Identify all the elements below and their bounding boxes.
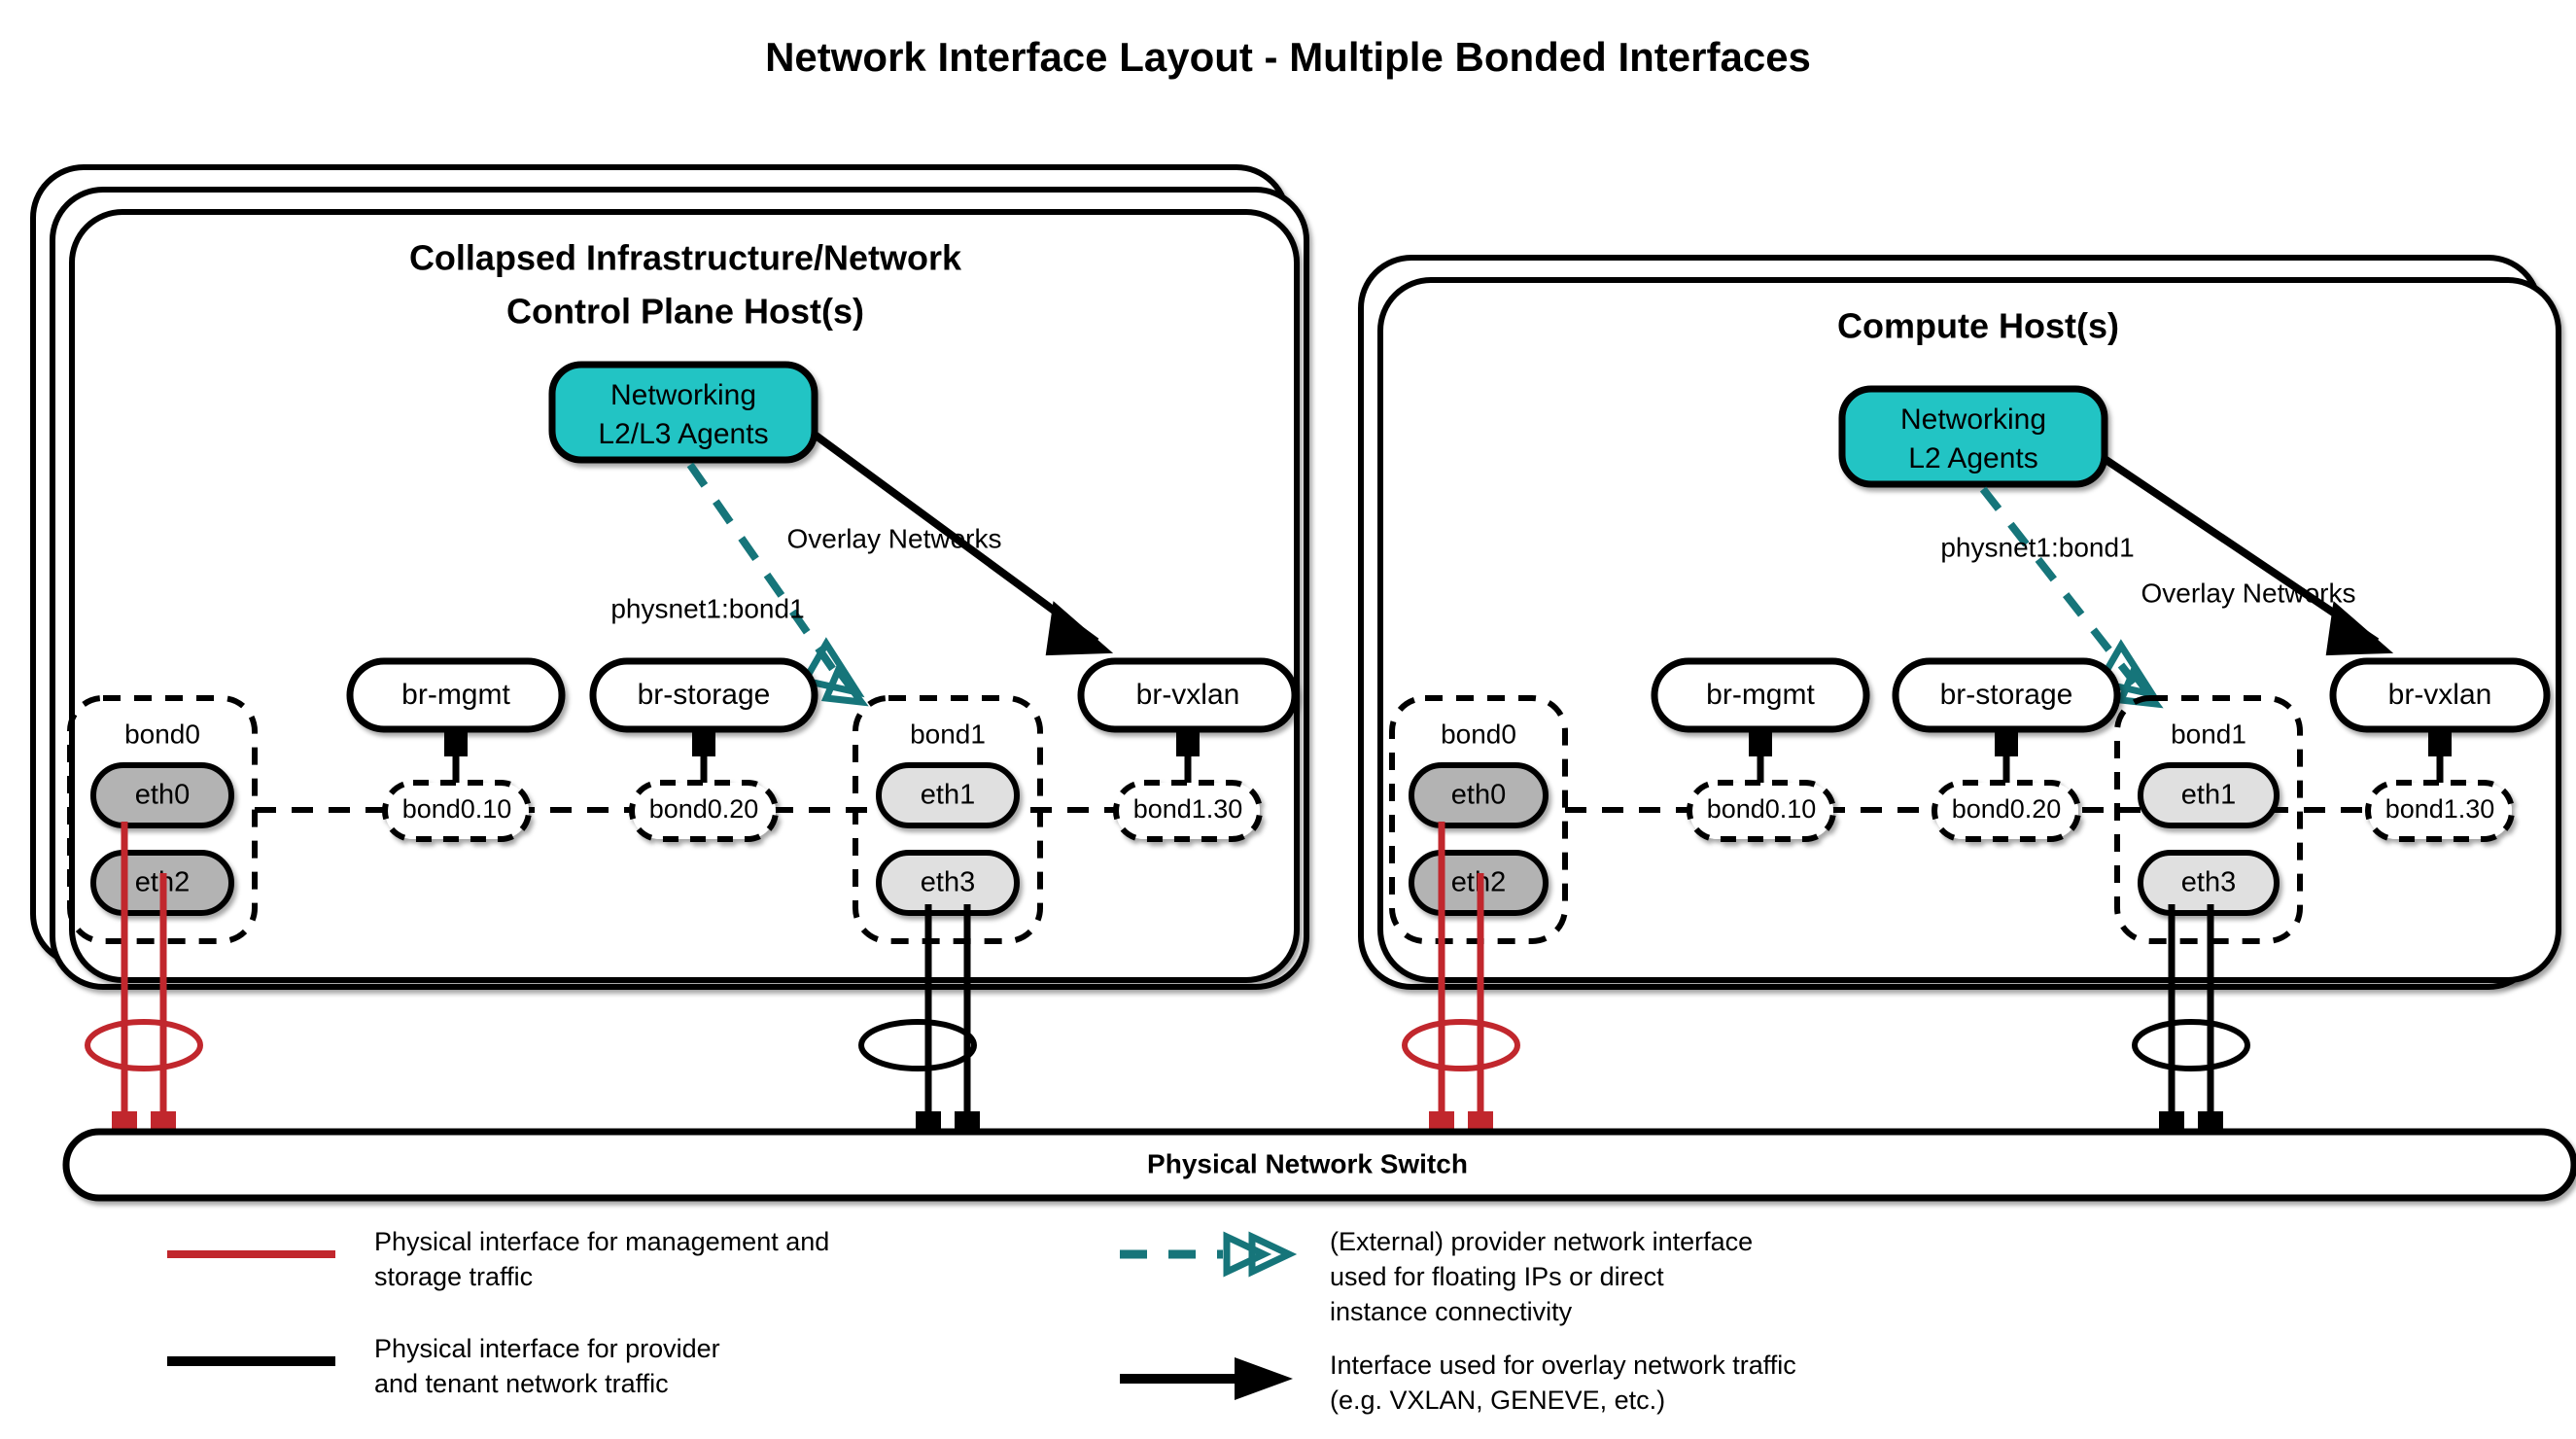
bond0-label: bond0 (124, 719, 200, 749)
nic-eth0[interactable]: eth0 (1411, 765, 1546, 825)
bridge-br-storage[interactable]: br-storage (1896, 661, 2117, 729)
vlan-bond0-20[interactable]: bond0.20 (632, 783, 776, 839)
legend-text-line-2: and tenant network traffic (374, 1369, 669, 1398)
vlan-bond0-20[interactable]: bond0.20 (1934, 783, 2078, 839)
legend-text-line-1: Physical interface for management and (374, 1227, 829, 1256)
nic-eth1[interactable]: eth1 (879, 765, 1017, 825)
bridge-br-vxlan[interactable]: br-vxlan (1081, 661, 1295, 729)
switch-label: Physical Network Switch (1147, 1148, 1468, 1178)
agent-label-line1: Networking (1900, 404, 2046, 436)
diagram-canvas: Network Interface Layout - Multiple Bond… (0, 0, 2576, 1439)
host-card-front (1380, 280, 2559, 980)
bond1-label: bond1 (910, 719, 986, 749)
legend-text-line-3: instance connectivity (1330, 1297, 1573, 1326)
bridge-br-mgmt[interactable]: br-mgmt (350, 661, 562, 729)
network-diagram: Network Interface Layout - Multiple Bond… (0, 0, 2576, 1439)
vlan-bond1-30[interactable]: bond1.30 (2368, 783, 2512, 839)
bond1-label: bond1 (2171, 719, 2246, 749)
legend-text-line-1: (External) provider network interface (1330, 1227, 1753, 1256)
host-title-line2: Control Plane Host(s) (506, 292, 864, 332)
agent-label-line2: L2 Agents (1908, 442, 2037, 474)
bridge-br-mgmt-label: br-mgmt (1706, 679, 1815, 711)
vlan-bond0-10[interactable]: bond0.10 (1689, 783, 1833, 839)
legend-text-line-1: Physical interface for provider (374, 1334, 720, 1363)
host-title-line1: Collapsed Infrastructure/Network (409, 238, 962, 278)
bridge-br-mgmt-label: br-mgmt (401, 679, 510, 711)
nic-eth1-label: eth1 (921, 780, 975, 811)
provider-annotation: physnet1:bond1 (1940, 532, 2134, 562)
vlan-bond1-30-label: bond1.30 (1133, 794, 1243, 824)
nic-eth3-label: eth3 (2181, 867, 2236, 898)
bridge-br-storage-label: br-storage (1940, 679, 2073, 711)
vlan-bond0-20-label: bond0.20 (649, 794, 759, 824)
overlay-annotation: Overlay Networks (2141, 578, 2356, 608)
legend-text-line-2: storage traffic (374, 1262, 533, 1291)
vlan-bond0-10-label: bond0.10 (402, 794, 512, 824)
bridge-br-storage-label: br-storage (638, 679, 771, 711)
bridge-br-storage[interactable]: br-storage (593, 661, 815, 729)
nic-eth3-label: eth3 (921, 867, 975, 898)
bridge-br-mgmt[interactable]: br-mgmt (1654, 661, 1866, 729)
agent-label-line2: L2/L3 Agents (598, 418, 768, 450)
page-title: Network Interface Layout - Multiple Bond… (765, 34, 1811, 80)
nic-eth3[interactable]: eth3 (879, 853, 1017, 913)
networking-agents-box[interactable]: Networking L2 Agents (1842, 389, 2105, 484)
nic-eth0-label: eth0 (135, 780, 190, 811)
vlan-bond0-20-label: bond0.20 (1952, 794, 2062, 824)
nic-eth1[interactable]: eth1 (2141, 765, 2277, 825)
bridge-br-vxlan[interactable]: br-vxlan (2333, 661, 2547, 729)
legend-text-line-2: used for floating IPs or direct (1330, 1262, 1664, 1291)
vlan-bond0-10-label: bond0.10 (1707, 794, 1817, 824)
vlan-bond1-30-label: bond1.30 (2385, 794, 2495, 824)
bridge-br-vxlan-label: br-vxlan (1136, 679, 1240, 711)
bond0-label: bond0 (1441, 719, 1516, 749)
nic-eth0-label: eth0 (1451, 780, 1506, 811)
host-title-line1: Compute Host(s) (1837, 306, 2119, 346)
nic-eth3[interactable]: eth3 (2141, 853, 2277, 913)
agent-label-line1: Networking (610, 379, 756, 411)
bridge-br-vxlan-label: br-vxlan (2388, 679, 2492, 711)
vlan-bond1-30[interactable]: bond1.30 (1116, 783, 1260, 839)
nic-eth0[interactable]: eth0 (93, 765, 231, 825)
physical-network-switch[interactable]: Physical Network Switch (66, 1132, 2574, 1198)
vlan-bond0-10[interactable]: bond0.10 (385, 783, 529, 839)
overlay-annotation: Overlay Networks (787, 523, 1002, 553)
legend-text-line-1: Interface used for overlay network traff… (1330, 1351, 1796, 1380)
nic-eth1-label: eth1 (2181, 780, 2236, 811)
legend-text-line-2: (e.g. VXLAN, GENEVE, etc.) (1330, 1386, 1665, 1415)
provider-annotation: physnet1:bond1 (610, 593, 804, 623)
networking-agents-box[interactable]: Networking L2/L3 Agents (552, 365, 815, 460)
